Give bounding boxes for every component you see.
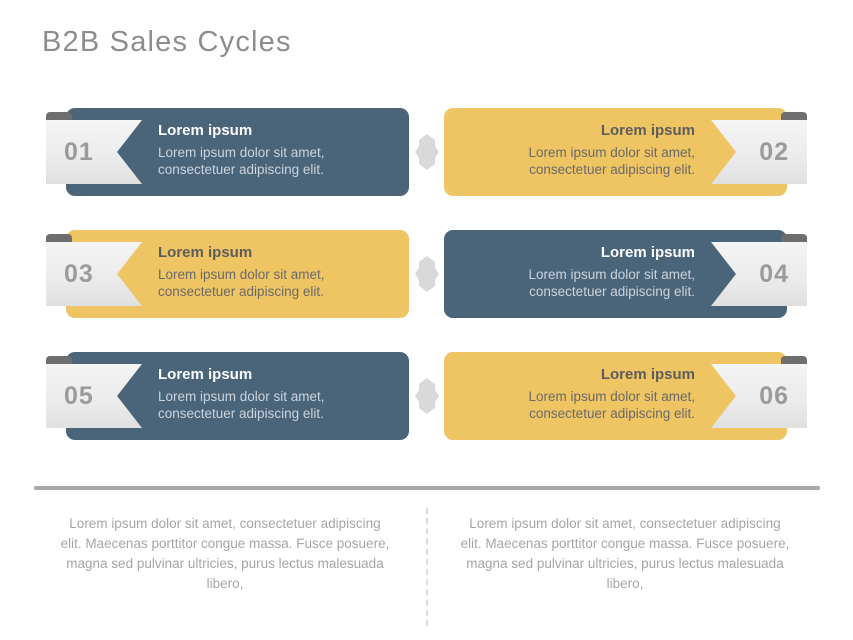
card-text-block: Lorem ipsum Lorem ipsum dolor sit amet, … (458, 365, 695, 422)
footer-text-right: Lorem ipsum dolor sit amet, consectetuer… (460, 514, 790, 594)
card-text-block: Lorem ipsum Lorem ipsum dolor sit amet, … (458, 243, 695, 300)
process-card-01[interactable]: 01 Lorem ipsum Lorem ipsum dolor sit ame… (66, 108, 409, 196)
card-text-block: Lorem ipsum Lorem ipsum dolor sit amet, … (158, 365, 395, 422)
ribbon-badge-02: 02 (711, 120, 807, 184)
step-number: 03 (46, 242, 142, 306)
page-title: B2B Sales Cycles (42, 26, 292, 59)
process-row: 03 Lorem ipsum Lorem ipsum dolor sit ame… (0, 230, 853, 330)
footer-text-left: Lorem ipsum dolor sit amet, consectetuer… (60, 514, 390, 594)
card-text-block: Lorem ipsum Lorem ipsum dolor sit amet, … (458, 121, 695, 178)
card-heading: Lorem ipsum (458, 243, 695, 262)
double-arrow-icon (415, 378, 439, 414)
card-heading: Lorem ipsum (458, 121, 695, 140)
card-heading: Lorem ipsum (158, 365, 395, 384)
double-arrow-icon (415, 134, 439, 170)
step-number: 06 (711, 364, 807, 428)
ribbon-badge-01: 01 (46, 120, 142, 184)
card-body: Lorem ipsum dolor sit amet, consectetuer… (458, 144, 695, 178)
process-card-06[interactable]: 06 Lorem ipsum Lorem ipsum dolor sit ame… (444, 352, 787, 440)
horizontal-divider (34, 486, 820, 490)
card-heading: Lorem ipsum (158, 121, 395, 140)
step-number: 01 (46, 120, 142, 184)
ribbon-badge-04: 04 (711, 242, 807, 306)
process-row: 01 Lorem ipsum Lorem ipsum dolor sit ame… (0, 108, 853, 208)
process-card-05[interactable]: 05 Lorem ipsum Lorem ipsum dolor sit ame… (66, 352, 409, 440)
vertical-dashed-divider (426, 508, 428, 626)
ribbon-badge-03: 03 (46, 242, 142, 306)
process-card-02[interactable]: 02 Lorem ipsum Lorem ipsum dolor sit ame… (444, 108, 787, 196)
ribbon-badge-05: 05 (46, 364, 142, 428)
card-body: Lorem ipsum dolor sit amet, consectetuer… (158, 266, 395, 300)
card-body: Lorem ipsum dolor sit amet, consectetuer… (158, 144, 395, 178)
card-heading: Lorem ipsum (158, 243, 395, 262)
card-text-block: Lorem ipsum Lorem ipsum dolor sit amet, … (158, 121, 395, 178)
process-row: 05 Lorem ipsum Lorem ipsum dolor sit ame… (0, 352, 853, 452)
ribbon-badge-06: 06 (711, 364, 807, 428)
process-rows: 01 Lorem ipsum Lorem ipsum dolor sit ame… (0, 108, 853, 474)
card-text-block: Lorem ipsum Lorem ipsum dolor sit amet, … (158, 243, 395, 300)
step-number: 05 (46, 364, 142, 428)
process-card-04[interactable]: 04 Lorem ipsum Lorem ipsum dolor sit ame… (444, 230, 787, 318)
step-number: 02 (711, 120, 807, 184)
card-body: Lorem ipsum dolor sit amet, consectetuer… (158, 388, 395, 422)
step-number: 04 (711, 242, 807, 306)
card-body: Lorem ipsum dolor sit amet, consectetuer… (458, 388, 695, 422)
double-arrow-icon (415, 256, 439, 292)
card-heading: Lorem ipsum (458, 365, 695, 384)
card-body: Lorem ipsum dolor sit amet, consectetuer… (458, 266, 695, 300)
process-card-03[interactable]: 03 Lorem ipsum Lorem ipsum dolor sit ame… (66, 230, 409, 318)
